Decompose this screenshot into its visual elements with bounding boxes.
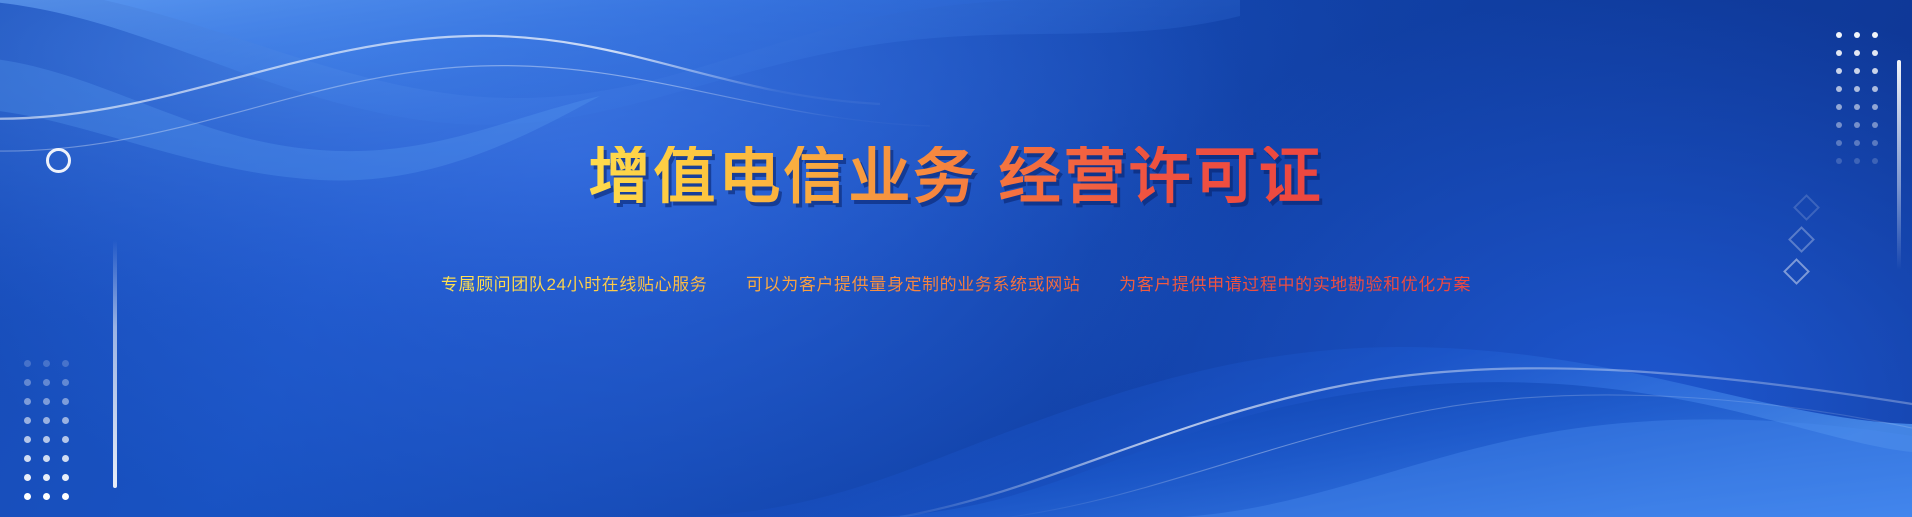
subtitle-part-1: 专属顾问团队24小时在线贴心服务 <box>441 275 708 294</box>
banner-content: 增值电信业务 经营许可证 专属顾问团队24小时在线贴心服务 可以为客户提供量身定… <box>0 0 1912 517</box>
subtitle-part-3: 为客户提供申请过程中的实地勘验和优化方案 <box>1119 275 1471 294</box>
banner-title: 增值电信业务 经营许可证 <box>588 146 1323 208</box>
promo-banner: 增值电信业务 经营许可证 专属顾问团队24小时在线贴心服务 可以为客户提供量身定… <box>0 0 1912 517</box>
subtitle-part-2: 可以为客户提供量身定制的业务系统或网站 <box>746 275 1080 294</box>
banner-subtitle: 专属顾问团队24小时在线贴心服务 可以为客户提供量身定制的业务系统或网站 为客户… <box>441 276 1471 293</box>
